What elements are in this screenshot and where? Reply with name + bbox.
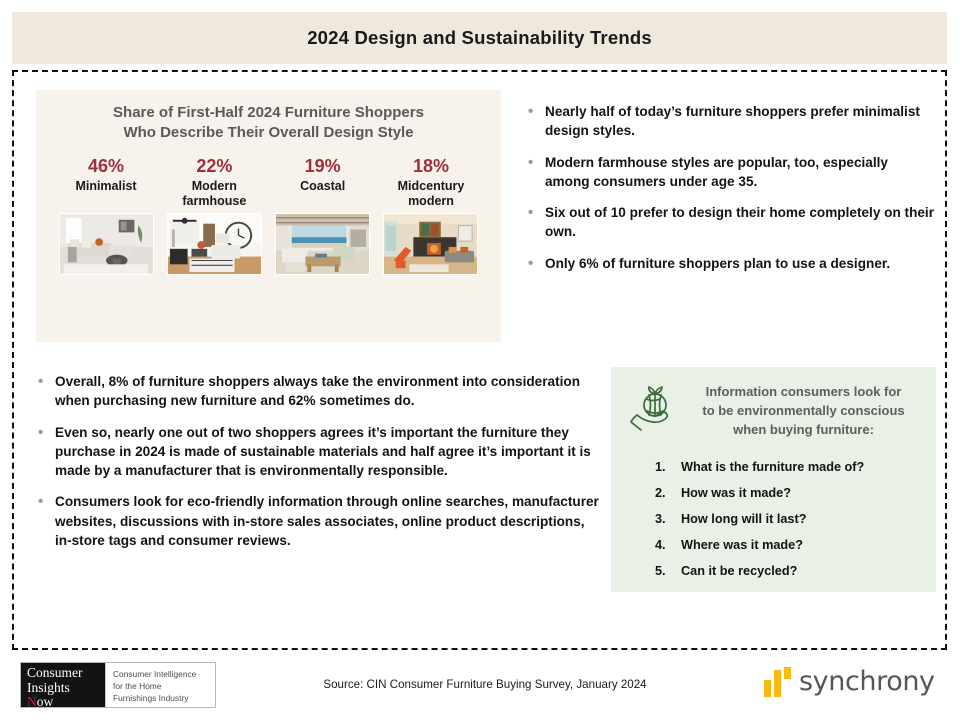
list-item: Only 6% of furniture shoppers plan to us… [526, 254, 936, 273]
eco-box-heading: Information consumers look for to be env… [689, 381, 918, 440]
list-item-number: 5. [655, 564, 666, 579]
style-label-minimalist: Minimalist [52, 179, 160, 211]
midcentury-modern-room-thumbnail [383, 213, 478, 275]
list-item-label: What is the furniture made of? [681, 460, 864, 474]
page-title: 2024 Design and Sustainability Trends [307, 27, 652, 49]
cin-logo-tagline: Consumer Intelligence for the Home Furni… [105, 663, 215, 707]
minimalist-living-room-thumbnail [59, 213, 154, 275]
style-label-line-1: Modern [160, 179, 268, 194]
list-item-label: Can it be recycled? [681, 564, 797, 578]
synchrony-bar-2 [774, 670, 781, 697]
cin-tagline-line-1: Consumer Intelligence [113, 668, 211, 680]
design-insights-bullet-list: Nearly half of today’s furniture shopper… [526, 102, 936, 285]
cin-tagline-line-2: for the Home [113, 680, 211, 692]
style-label-modern-farmhouse: Modern farmhouse [160, 179, 268, 211]
eco-heading-line-3: when buying furniture: [689, 421, 918, 440]
design-style-item-coastal: 19% Coastal [269, 156, 377, 276]
content-frame: Share of First-Half 2024 Furniture Shopp… [12, 70, 947, 650]
design-style-item-midcentury-modern: 18% Midcentury modern [377, 156, 485, 276]
list-item-label: How was it made? [681, 486, 791, 500]
style-percent-modern-farmhouse: 22% [160, 156, 268, 177]
design-style-item-minimalist: 46% Minimalist [52, 156, 160, 276]
style-percent-minimalist: 46% [52, 156, 160, 177]
list-item-label: Where was it made? [681, 538, 803, 552]
eco-heading-line-2: to be environmentally conscious [689, 402, 918, 421]
cin-logo-accent-letter: N [27, 694, 37, 709]
synchrony-logo: synchrony [764, 666, 935, 697]
synchrony-wordmark: synchrony [799, 666, 935, 697]
coastal-living-room-thumbnail [275, 213, 370, 275]
design-style-item-modern-farmhouse: 22% Modern farmhouse [160, 156, 268, 276]
header-band: 2024 Design and Sustainability Trends [12, 12, 947, 64]
chart-title-line-1: Share of First-Half 2024 Furniture Shopp… [54, 103, 483, 123]
eco-heading-line-1: Information consumers look for [689, 383, 918, 402]
infographic-root: 2024 Design and Sustainability Trends Sh… [0, 0, 960, 720]
eco-information-box: Information consumers look for to be env… [611, 367, 936, 592]
list-item-number: 4. [655, 538, 666, 553]
list-item: 4. Where was it made? [655, 538, 936, 553]
style-label-line-1: Minimalist [52, 179, 160, 194]
synchrony-bars-icon [764, 667, 791, 697]
list-item: 1. What is the furniture made of? [655, 460, 936, 475]
cin-logo-word-3-rest: ow [37, 694, 54, 709]
style-label-line-1: Midcentury [377, 179, 485, 194]
eco-box-header: Information consumers look for to be env… [611, 367, 936, 440]
list-item-number: 2. [655, 486, 666, 501]
cin-logo-word-3: Now [27, 695, 100, 710]
style-percent-coastal: 19% [269, 156, 377, 177]
list-item-number: 1. [655, 460, 666, 475]
cin-tagline-line-3: Furnishings Industry [113, 692, 211, 704]
cin-logo-word-1: Consumer [27, 666, 100, 681]
synchrony-bar-1 [764, 680, 771, 697]
hand-holding-globe-sprout-icon [625, 381, 679, 433]
list-item: Nearly half of today’s furniture shopper… [526, 102, 936, 141]
sustainability-bullet-list: Overall, 8% of furniture shoppers always… [36, 372, 601, 562]
cin-logo-wordmark: Consumer Insights Now [21, 663, 105, 707]
list-item: Six out of 10 prefer to design their hom… [526, 203, 936, 242]
list-item: 5. Can it be recycled? [655, 564, 936, 579]
list-item-label: How long will it last? [681, 512, 806, 526]
eco-question-list: 1. What is the furniture made of? 2. How… [655, 460, 936, 580]
style-percent-midcentury-modern: 18% [377, 156, 485, 177]
list-item-number: 3. [655, 512, 666, 527]
list-item: Even so, nearly one out of two shoppers … [36, 423, 601, 481]
style-label-midcentury-modern: Midcentury modern [377, 179, 485, 211]
design-style-items: 46% Minimalist [36, 144, 501, 276]
chart-title: Share of First-Half 2024 Furniture Shopp… [36, 90, 501, 144]
style-label-coastal: Coastal [269, 179, 377, 211]
list-item: Consumers look for eco-friendly informat… [36, 492, 601, 550]
list-item: 3. How long will it last? [655, 512, 936, 527]
style-label-line-1: Coastal [269, 179, 377, 194]
cin-logo-word-2: Insights [27, 681, 100, 696]
list-item: Modern farmhouse styles are popular, too… [526, 153, 936, 192]
modern-farmhouse-room-thumbnail [167, 213, 262, 275]
consumer-insights-now-logo: Consumer Insights Now Consumer Intellige… [20, 662, 216, 708]
design-style-chart-panel: Share of First-Half 2024 Furniture Shopp… [36, 90, 501, 342]
source-citation: Source: CIN Consumer Furniture Buying Su… [300, 678, 670, 691]
list-item: 2. How was it made? [655, 486, 936, 501]
chart-title-line-2: Who Describe Their Overall Design Style [54, 123, 483, 143]
style-label-line-2: modern [377, 194, 485, 209]
synchrony-bar-3 [784, 667, 791, 679]
list-item: Overall, 8% of furniture shoppers always… [36, 372, 601, 411]
style-label-line-2: farmhouse [160, 194, 268, 209]
